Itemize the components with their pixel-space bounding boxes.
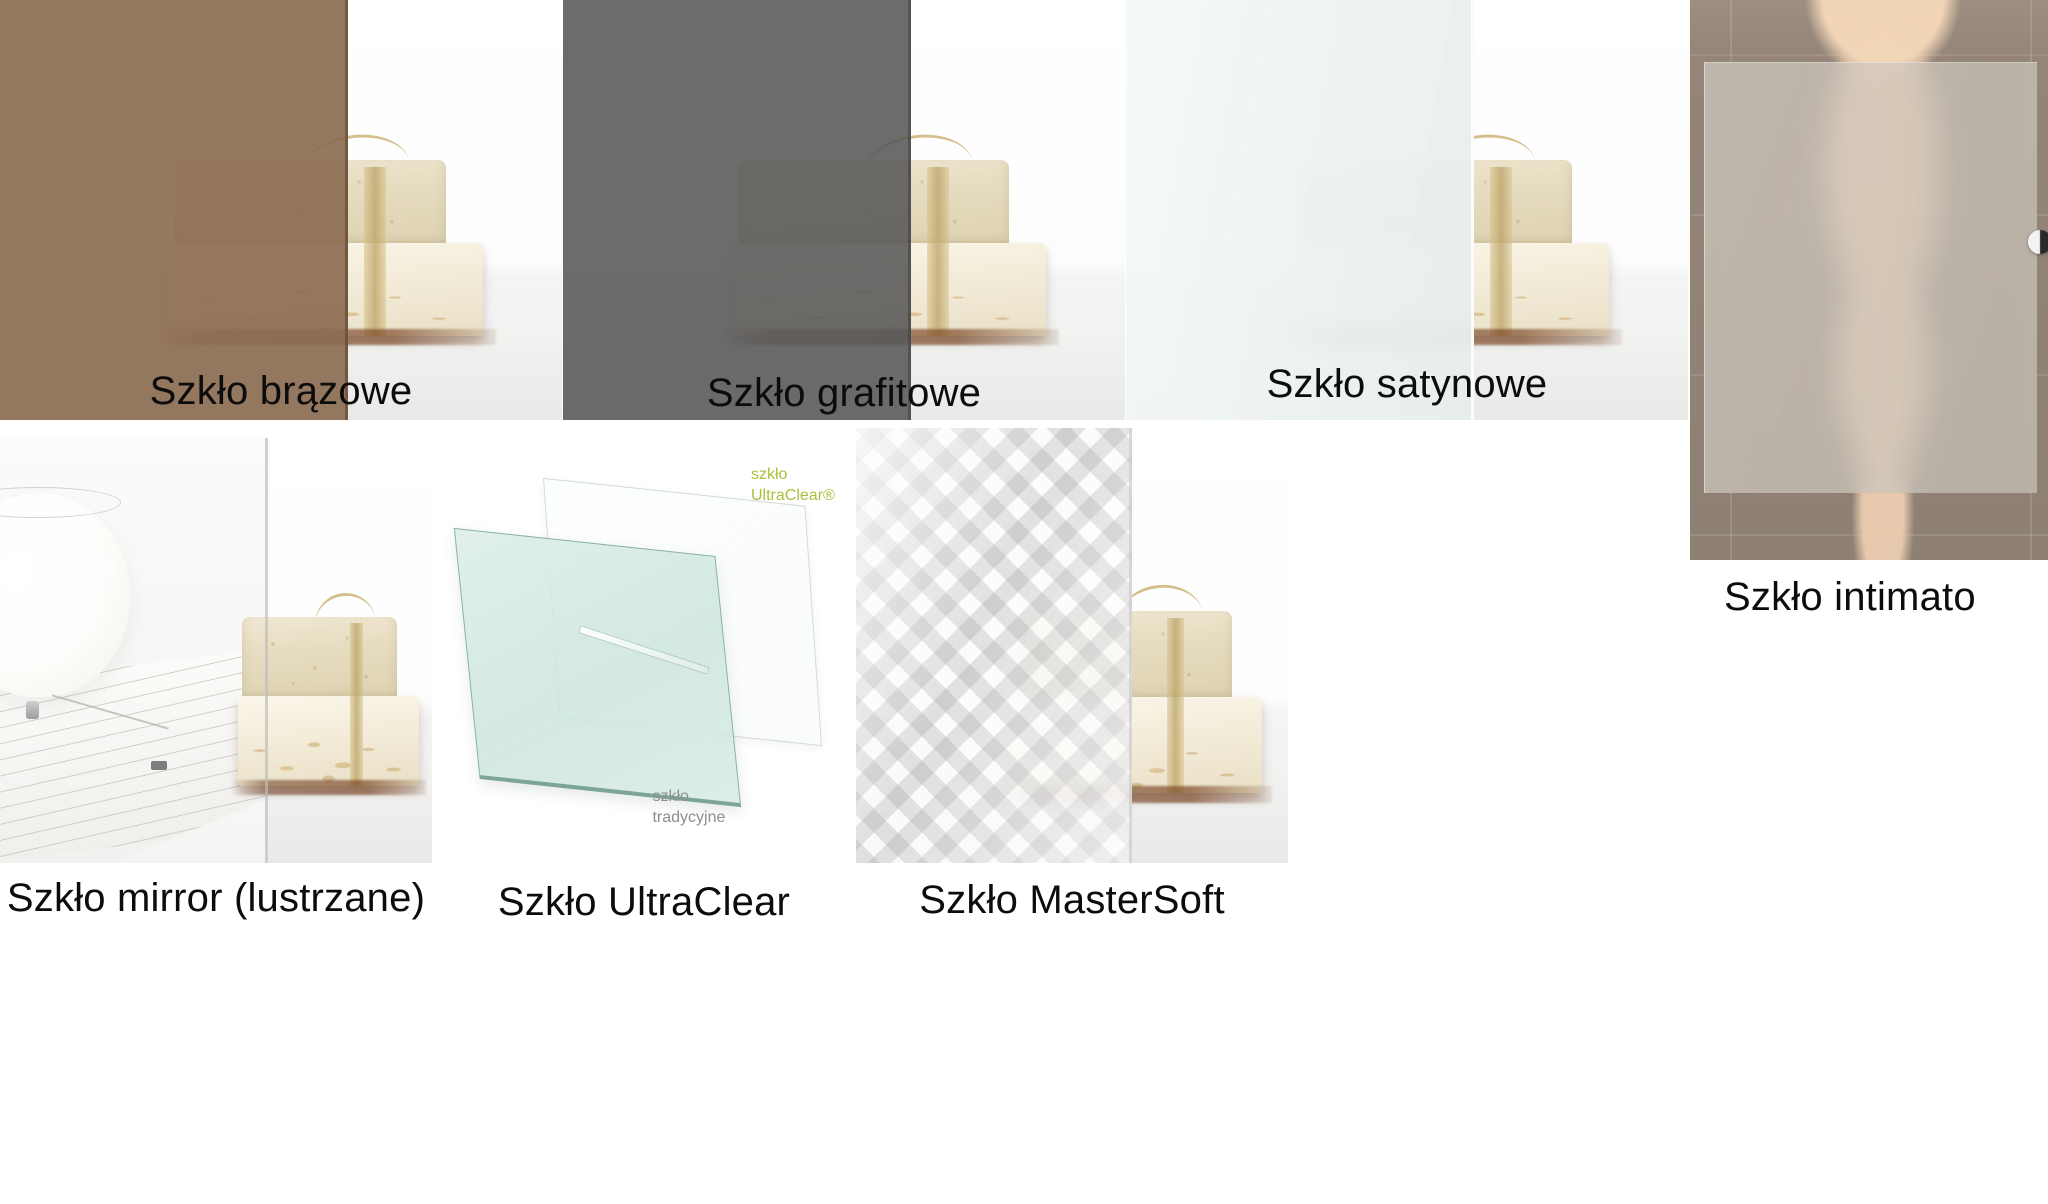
ultraclear-annotation-line1: szkło [751,464,835,486]
glass-tile-mastersoft[interactable]: Szkło MasterSoft [856,428,1288,863]
glass-tile-brown[interactable]: Szkło brązowe [0,0,562,420]
caption-mastersoft-glass: Szkło MasterSoft [856,878,1288,923]
graphite-glass-overlay [563,0,911,420]
caption-satin-glass: Szkło satynowe [1126,362,1688,407]
photo-brown-glass [0,0,562,420]
twine-band [1167,618,1185,793]
glass-tile-graphite[interactable]: Szkło grafitowe [563,0,1125,420]
glass-tile-mirror[interactable]: Szkło mirror (lustrzane) [0,438,432,863]
glass-tile-satin[interactable]: Szkło satynowe [1126,0,1688,420]
ultraclear-annotation: szkło UltraClear® [751,464,835,507]
glass-tile-ultraclear[interactable]: szkło UltraClear® szkło tradycyjne Szkło… [432,438,856,863]
photo-ultraclear-glass: szkło UltraClear® szkło tradycyjne [432,438,856,863]
traditional-annotation-line1: szkło [652,786,725,808]
twine-band [927,167,949,336]
caption-graphite-glass: Szkło grafitowe [563,371,1125,416]
brown-glass-overlay [0,0,348,420]
door-knob-icon [2028,230,2048,254]
caption-intimato-glass: Szkło intimato [1690,575,2048,620]
shower-scene [1690,0,2048,560]
photo-graphite-glass [563,0,1125,420]
satin-glass-overlay [1126,0,1474,420]
caption-brown-glass: Szkło brązowe [0,369,562,414]
traditional-glass-annotation: szkło tradycyjne [652,786,725,829]
caption-mirror-glass: Szkło mirror (lustrzane) [0,876,432,921]
twine-band [364,167,386,336]
glass-tile-intimato[interactable]: Szkło intimato [1690,0,2048,560]
mastersoft-glass-overlay [856,428,1132,863]
photo-mirror-glass [0,438,432,863]
intimato-glass-panel [1704,62,2037,493]
glass-sheen [856,428,1132,863]
ultraclear-annotation-line2: UltraClear® [751,485,835,507]
photo-mastersoft-glass [856,428,1288,863]
traditional-annotation-line2: tradycyjne [652,807,725,829]
photo-intimato-glass [1690,0,2048,560]
twine-band [350,623,363,786]
caption-ultraclear-glass: Szkło UltraClear [432,880,856,925]
glass-types-gallery: Szkło brązowe Szkło grafitowe [0,0,2048,1204]
soap-still-life-scene [268,438,432,863]
photo-satin-glass [1126,0,1688,420]
mirror-glass-overlay [0,438,268,863]
twine-band [1490,167,1512,336]
